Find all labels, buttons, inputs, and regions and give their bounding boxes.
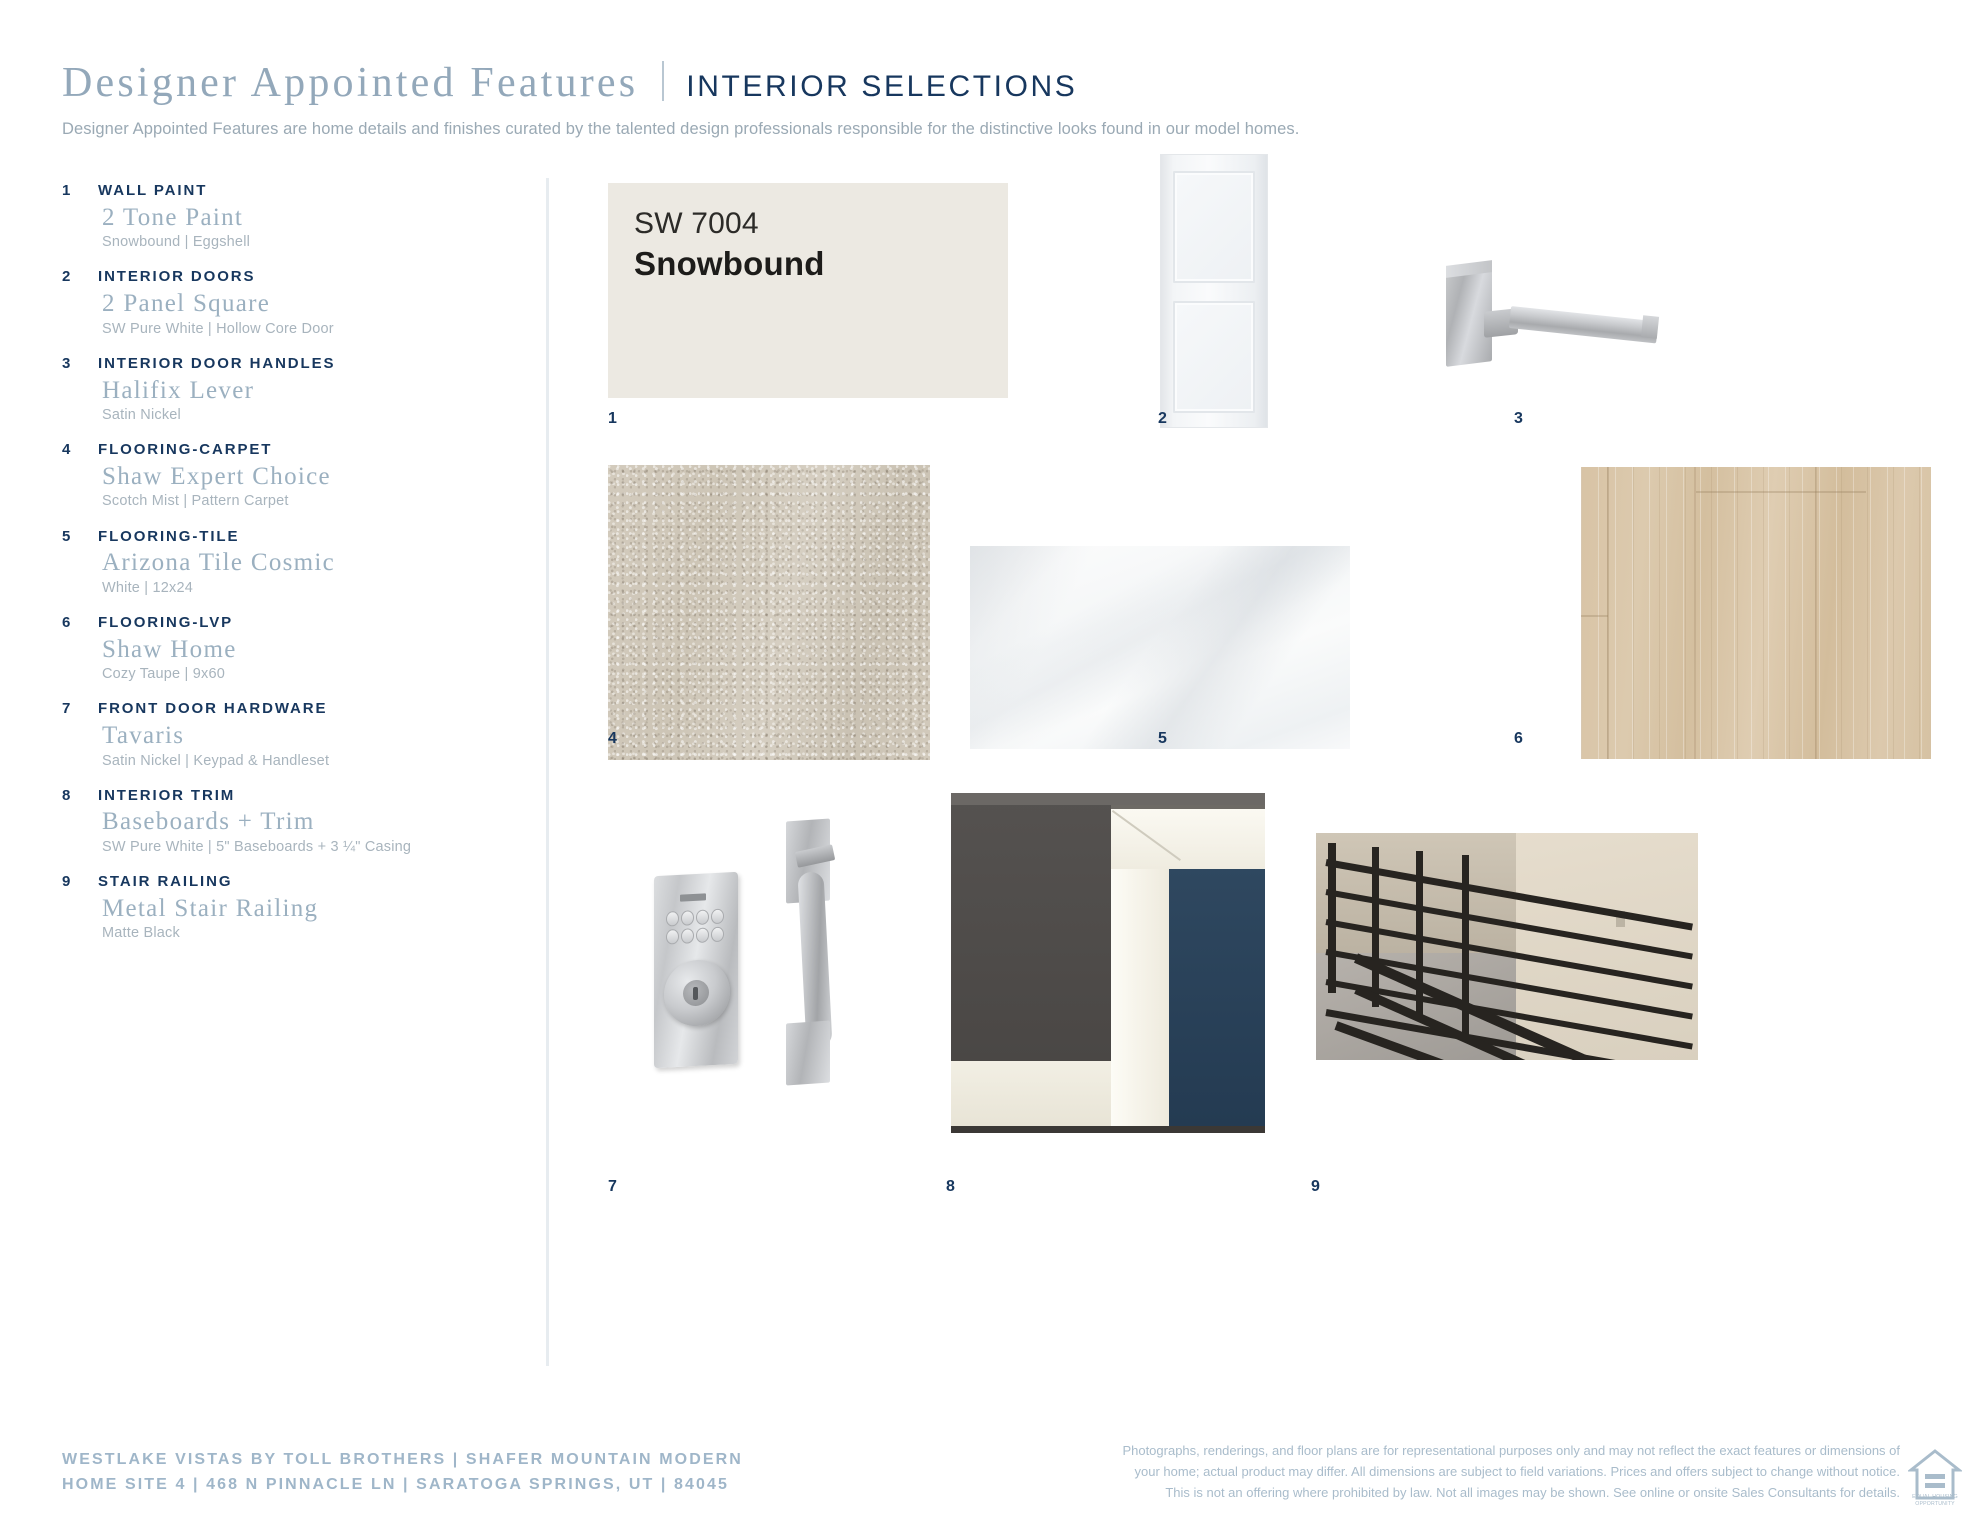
intro-paragraph: Designer Appointed Features are home det… (62, 120, 1662, 139)
gallery-number-7: 7 (608, 1178, 617, 1196)
item-number: 5 (62, 528, 98, 547)
lvp-swatch-image (1581, 467, 1931, 759)
stair-railing-image (1316, 833, 1698, 1060)
gallery-number-8: 8 (946, 1178, 955, 1196)
interior-door-image (1160, 154, 1268, 428)
list-item: 3 INTERIOR DOOR HANDLES Halifix Lever Sa… (62, 355, 502, 424)
lvp-seam (1581, 615, 1608, 617)
lvp-seam (1607, 467, 1609, 759)
item-number: 4 (62, 441, 98, 460)
keypad-key (681, 910, 694, 926)
disclaimer-line-1: Photographs, renderings, and floor plans… (1010, 1440, 1900, 1461)
item-details: Satin Nickel (102, 406, 502, 424)
item-name: Metal Stair Railing (102, 894, 502, 924)
gallery-number-4: 4 (608, 730, 617, 748)
door-panel-top (1173, 171, 1255, 283)
keypad-keys (666, 908, 728, 947)
trim-baseboard (951, 1061, 1111, 1126)
item-name: 2 Tone Paint (102, 203, 502, 233)
legal-disclaimer: Photographs, renderings, and floor plans… (1010, 1440, 1900, 1503)
item-category: FLOORING-LVP (98, 614, 233, 633)
item-category: FLOORING-CARPET (98, 441, 272, 460)
keypad-brand-label (680, 893, 706, 901)
disclaimer-line-2: your home; actual product may differ. Al… (1010, 1461, 1900, 1482)
railing-post (1372, 847, 1379, 1007)
page-header: Designer Appointed Features INTERIOR SEL… (62, 56, 1662, 139)
gallery-number-1: 1 (608, 410, 617, 428)
keypad-key (666, 911, 679, 927)
gallery-number-9: 9 (1311, 1178, 1320, 1196)
handleset-plate-bottom (786, 1020, 830, 1085)
trim-blue-wall (1166, 863, 1265, 1126)
keypad-key (696, 927, 709, 943)
keyhole-icon (693, 987, 698, 1000)
page-subtitle-heading: INTERIOR SELECTIONS (686, 72, 1077, 102)
item-category: FLOORING-TILE (98, 528, 239, 547)
item-number: 8 (62, 787, 98, 806)
community-name-line: WESTLAKE VISTAS BY TOLL BROTHERS | SHAFE… (62, 1448, 743, 1473)
list-item: 6 FLOORING-LVP Shaw Home Cozy Taupe | 9x… (62, 614, 502, 683)
item-category: INTERIOR DOOR HANDLES (98, 355, 335, 374)
equal-housing-label: EQUAL HOUSING OPPORTUNITY (1896, 1494, 1974, 1507)
list-item: 8 INTERIOR TRIM Baseboards + Trim SW Pur… (62, 787, 502, 856)
list-item: 4 FLOORING-CARPET Shaw Expert Choice Sco… (62, 441, 502, 510)
keypad-key (696, 909, 709, 925)
item-name: 2 Panel Square (102, 289, 502, 319)
item-name: Arizona Tile Cosmic (102, 548, 502, 578)
lvp-seam (1815, 467, 1817, 759)
item-name: Baseboards + Trim (102, 807, 502, 837)
item-details: Snowbound | Eggshell (102, 233, 502, 251)
door-panel-bottom (1173, 301, 1255, 413)
door-lever-image (1436, 258, 1666, 378)
disclaimer-line-3: This is not an offering where prohibited… (1010, 1482, 1900, 1503)
page-title: Designer Appointed Features (62, 62, 638, 104)
item-details: Cozy Taupe | 9x60 (102, 665, 502, 683)
railing-post (1328, 843, 1336, 993)
title-divider (662, 61, 664, 101)
item-number: 7 (62, 700, 98, 719)
item-name: Shaw Expert Choice (102, 462, 502, 492)
lvp-seam (1696, 491, 1866, 493)
front-door-hardware-image (636, 810, 926, 1100)
eho-line-2: OPPORTUNITY (1896, 1501, 1974, 1508)
gallery-number-5: 5 (1158, 730, 1167, 748)
gallery-number-6: 6 (1514, 730, 1523, 748)
interior-trim-image (951, 793, 1265, 1133)
lever-bar-cap (1641, 315, 1659, 339)
item-number: 3 (62, 355, 98, 374)
keypad-key (711, 909, 724, 925)
item-details: Satin Nickel | Keypad & Handleset (102, 752, 502, 770)
gallery-number-3: 3 (1514, 410, 1523, 428)
item-category: INTERIOR TRIM (98, 787, 235, 806)
item-number: 9 (62, 873, 98, 892)
item-name: Shaw Home (102, 635, 502, 665)
lvp-seam (1694, 467, 1696, 759)
item-details: White | 12x24 (102, 579, 502, 597)
trim-dark-wall (951, 793, 1111, 1061)
item-details: Matte Black (102, 924, 502, 942)
keypad-key (711, 927, 724, 943)
item-details: SW Pure White | 5" Baseboards + 3 ¼" Cas… (102, 838, 502, 856)
brochure-page: Designer Appointed Features INTERIOR SEL… (0, 0, 1987, 1536)
item-number: 1 (62, 182, 98, 201)
list-item: 2 INTERIOR DOORS 2 Panel Square SW Pure … (62, 268, 502, 337)
keypad-key (666, 929, 679, 945)
item-category: INTERIOR DOORS (98, 268, 255, 287)
selections-list: 1 WALL PAINT 2 Tone Paint Snowbound | Eg… (62, 182, 502, 959)
paint-swatch-image: SW 7004 Snowbound (608, 183, 1008, 398)
paint-code: SW 7004 (634, 207, 759, 241)
trim-floor-strip (951, 1126, 1265, 1133)
list-item: 9 STAIR RAILING Metal Stair Railing Matt… (62, 873, 502, 942)
item-name: Tavaris (102, 721, 502, 751)
item-number: 6 (62, 614, 98, 633)
list-item: 7 FRONT DOOR HARDWARE Tavaris Satin Nick… (62, 700, 502, 769)
carpet-swatch-image (608, 465, 930, 760)
tile-swatch-image (970, 546, 1350, 749)
paint-name: Snowbound (634, 245, 825, 283)
item-name: Halifix Lever (102, 376, 502, 406)
title-row: Designer Appointed Features INTERIOR SEL… (62, 56, 1662, 104)
gallery-number-2: 2 (1158, 410, 1167, 428)
trim-casing-horizontal (1111, 809, 1265, 869)
item-details: Scotch Mist | Pattern Carpet (102, 492, 502, 510)
home-site-address-line: HOME SITE 4 | 468 N PINNACLE LN | SARATO… (62, 1473, 743, 1498)
trim-ceiling-strip (951, 793, 1265, 805)
item-number: 2 (62, 268, 98, 287)
keypad-key (681, 928, 694, 944)
image-gallery: SW 7004 Snowbound 1 2 3 4 5 (546, 178, 1966, 1368)
item-category: WALL PAINT (98, 182, 207, 201)
item-category: STAIR RAILING (98, 873, 232, 892)
community-address-block: WESTLAKE VISTAS BY TOLL BROTHERS | SHAFE… (62, 1448, 743, 1498)
railing-post (1416, 851, 1423, 1021)
item-category: FRONT DOOR HARDWARE (98, 700, 327, 719)
list-item: 1 WALL PAINT 2 Tone Paint Snowbound | Eg… (62, 182, 502, 251)
item-details: SW Pure White | Hollow Core Door (102, 320, 502, 338)
lever-bar (1509, 306, 1658, 343)
list-item: 5 FLOORING-TILE Arizona Tile Cosmic Whit… (62, 528, 502, 597)
